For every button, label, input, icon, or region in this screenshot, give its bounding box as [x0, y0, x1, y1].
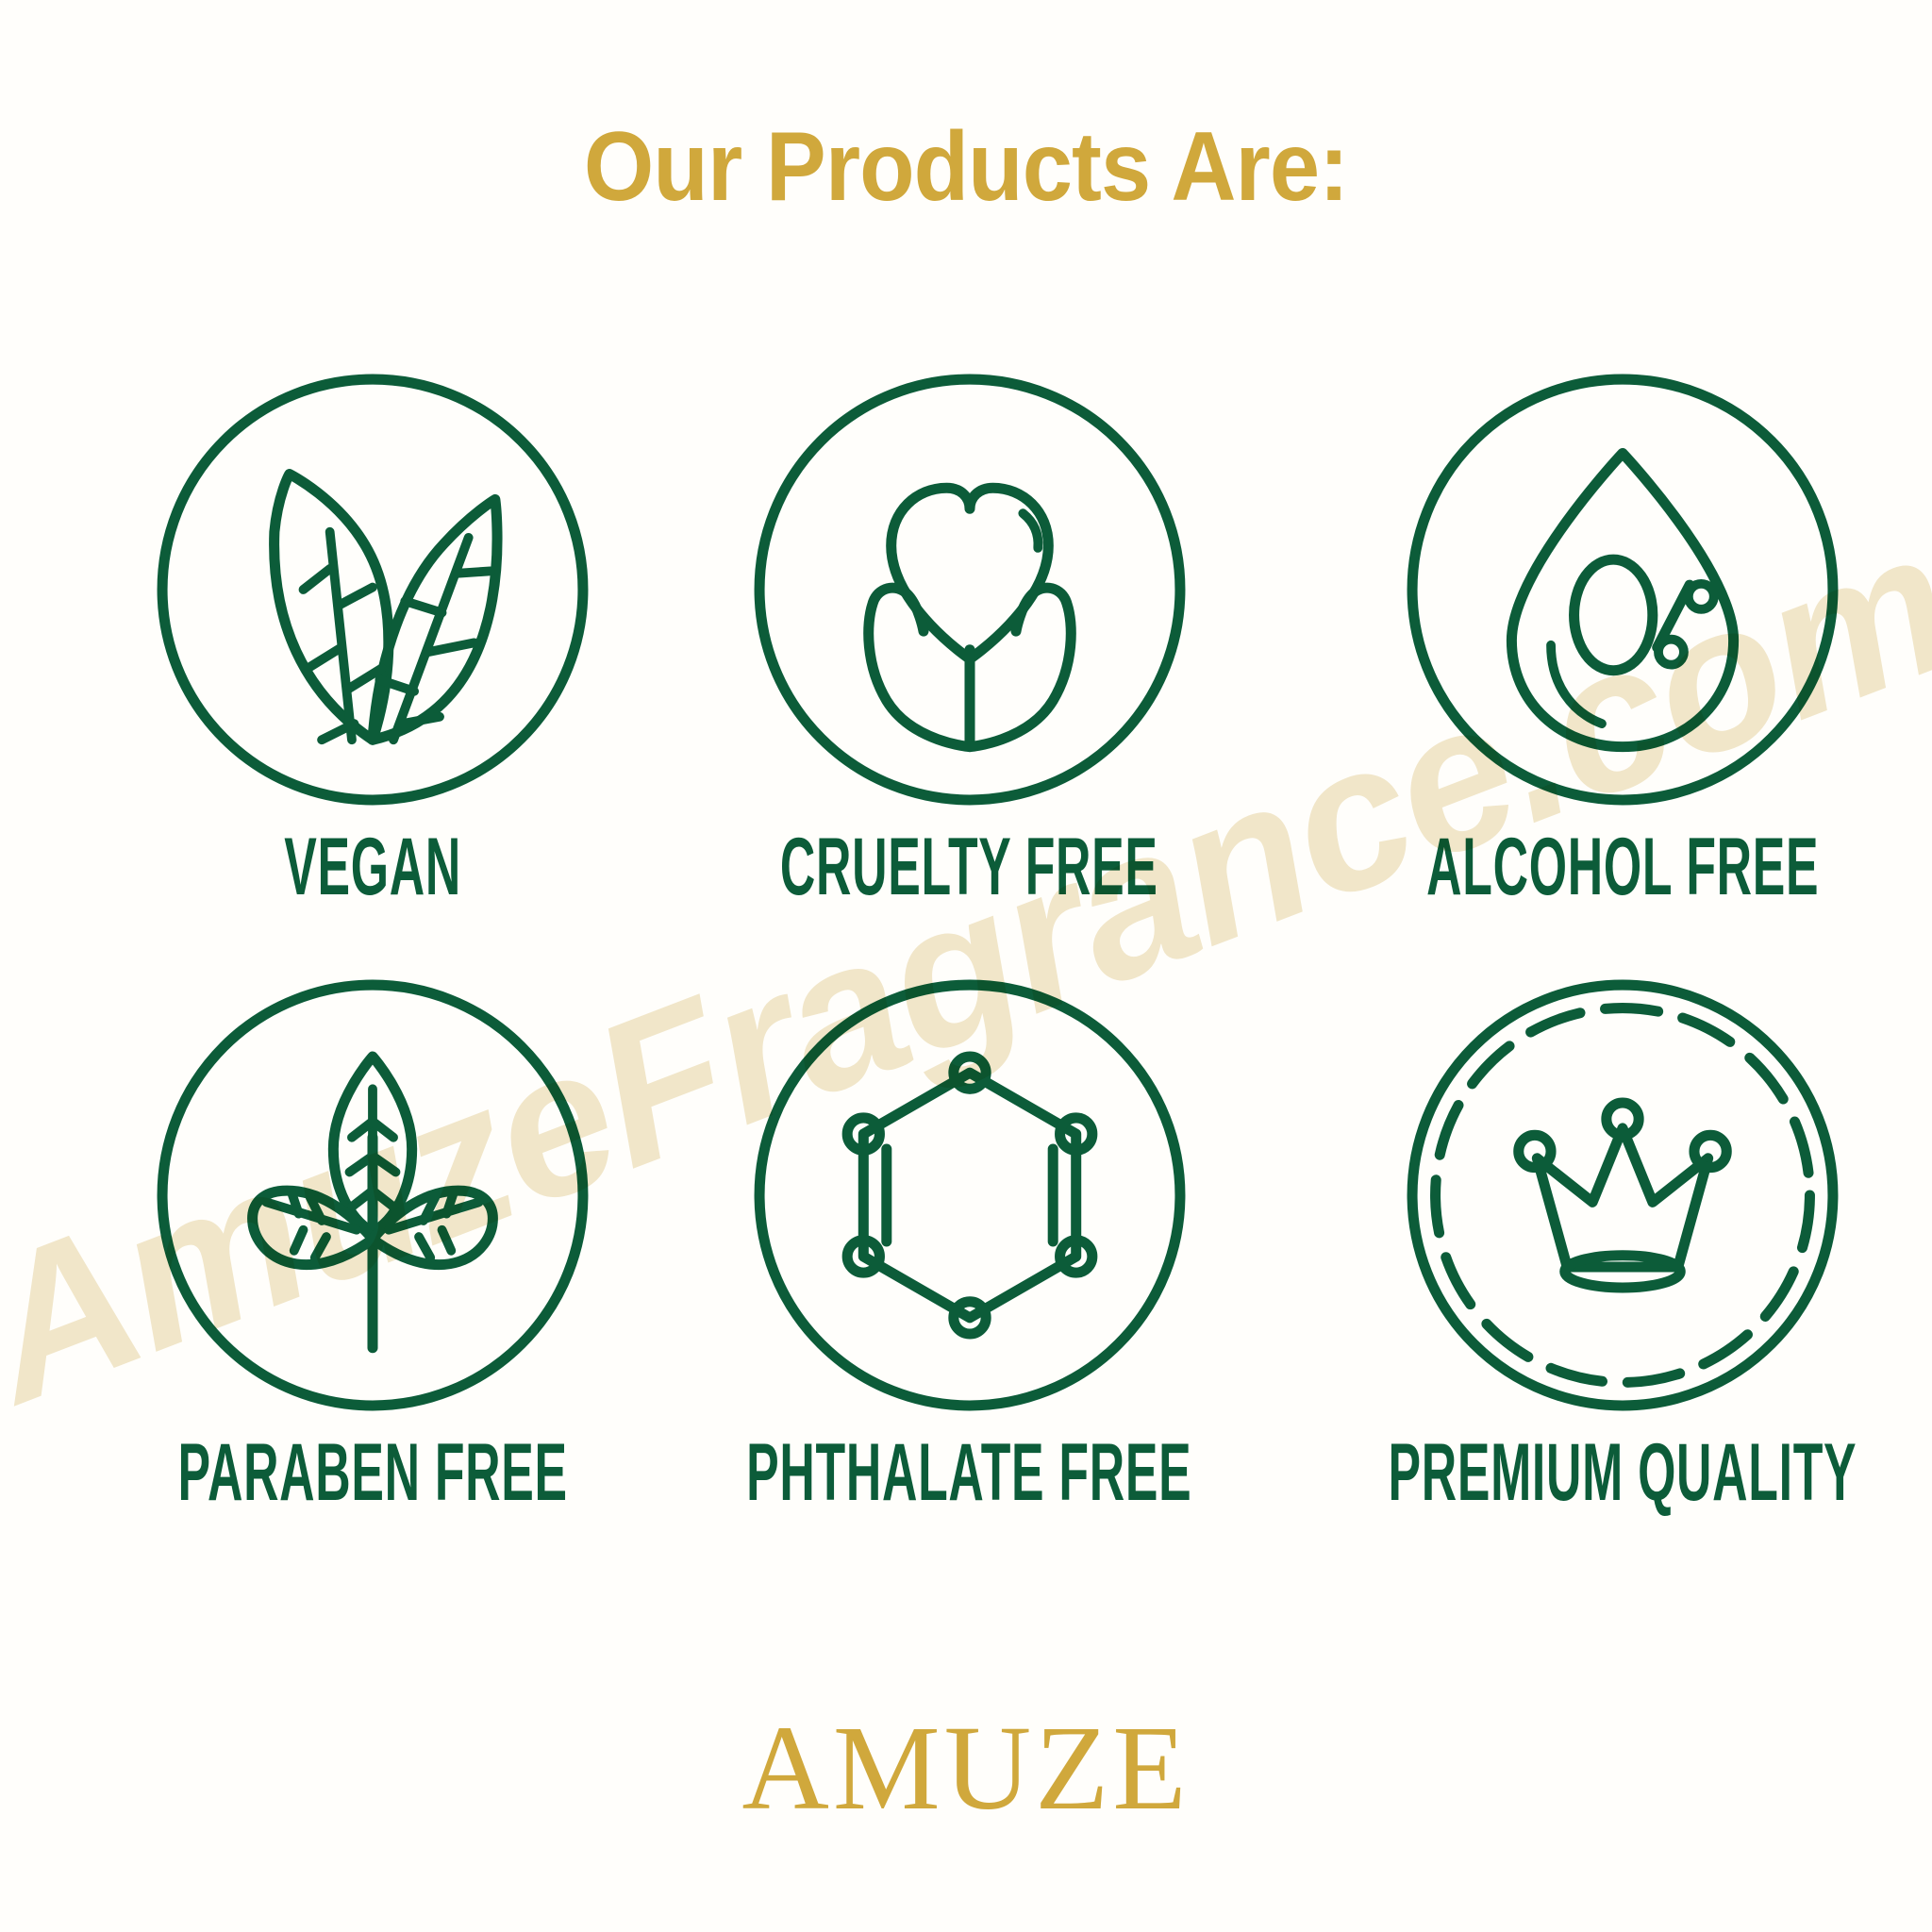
water-drop-zero-percent-icon — [1391, 358, 1854, 821]
badge-label: VEGAN — [284, 826, 461, 908]
badge-alcohol-free[interactable]: ALCOHOL FREE — [1288, 358, 1932, 896]
brand-logo: AMUZE — [0, 1707, 1932, 1828]
badge-cruelty-free[interactable]: CRUELTY FREE — [651, 358, 1288, 896]
badge-label: CRUELTY FREE — [780, 826, 1158, 908]
poster-canvas: Our Products Are: VEGAN — [0, 0, 1932, 1932]
brand-name: AMUZE — [741, 1707, 1190, 1828]
two-leaves-icon — [142, 358, 604, 821]
crown-icon — [1391, 964, 1854, 1426]
badge-label: PREMIUM QUALITY — [1388, 1432, 1857, 1513]
badge-grid: VEGAN CRUELTY FREE — [94, 358, 1838, 1502]
badge-paraben-free[interactable]: PARABEN FREE — [94, 964, 651, 1502]
badge-premium-quality[interactable]: PREMIUM QUALITY — [1288, 964, 1932, 1502]
leafy-plant-icon — [142, 964, 604, 1426]
badge-phthalate-free[interactable]: PHTHALATE FREE — [651, 964, 1288, 1502]
badge-label: PHTHALATE FREE — [747, 1432, 1192, 1513]
badge-label: PARABEN FREE — [178, 1432, 568, 1513]
heart-in-hands-icon — [739, 358, 1201, 821]
page-title: Our Products Are: — [77, 111, 1855, 224]
badge-vegan[interactable]: VEGAN — [94, 358, 651, 896]
badge-label: ALCOHOL FREE — [1426, 826, 1819, 908]
molecule-hexagon-icon — [739, 964, 1201, 1426]
